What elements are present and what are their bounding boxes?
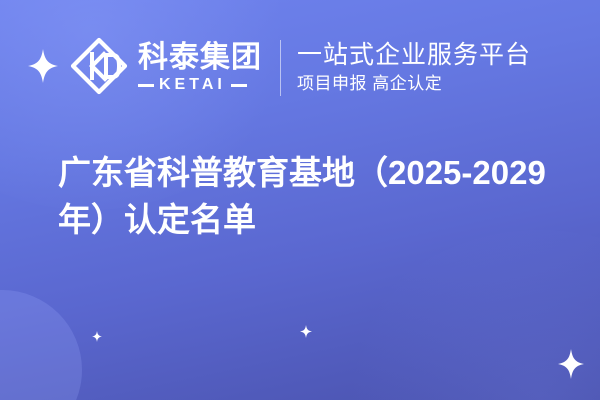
decorative-glow-bottom-right — [340, 230, 600, 400]
sparkle-bottom-center-icon — [300, 325, 312, 338]
brand-name-cn: 科泰集团 — [138, 43, 262, 73]
brand-rule-right — [231, 84, 247, 87]
decorative-circle-bottom-left — [0, 290, 82, 400]
brand-tagline: 一站式企业服务平台 项目申报 高企认定 — [297, 41, 531, 95]
tagline-sub: 项目申报 高企认定 — [297, 73, 531, 95]
page-title: 广东省科普教育基地（2025-2029年）认定名单 — [58, 150, 568, 244]
ketai-diamond-kd-logo-icon — [68, 35, 130, 102]
sparkle-bottom-right-icon — [558, 349, 584, 379]
sparkle-icon — [28, 49, 58, 88]
brand-logo[interactable]: 科泰集团 KETAI — [68, 35, 262, 102]
tagline-main: 一站式企业服务平台 — [297, 41, 531, 70]
brand-name-en: KETAI — [154, 77, 231, 93]
sparkle-bottom-left-icon — [92, 331, 102, 342]
header-divider — [280, 40, 281, 96]
brand-name-en-row: KETAI — [138, 77, 262, 93]
banner-header: 科泰集团 KETAI 一站式企业服务平台 项目申报 高企认定 — [0, 30, 600, 106]
brand-rule-left — [138, 84, 154, 87]
brand-wordmark: 科泰集团 KETAI — [138, 43, 262, 93]
promo-banner: 科泰集团 KETAI 一站式企业服务平台 项目申报 高企认定 广东省科普教育基地… — [0, 0, 600, 400]
page-title-text: 广东省科普教育基地（2025-2029年）认定名单 — [58, 154, 546, 238]
